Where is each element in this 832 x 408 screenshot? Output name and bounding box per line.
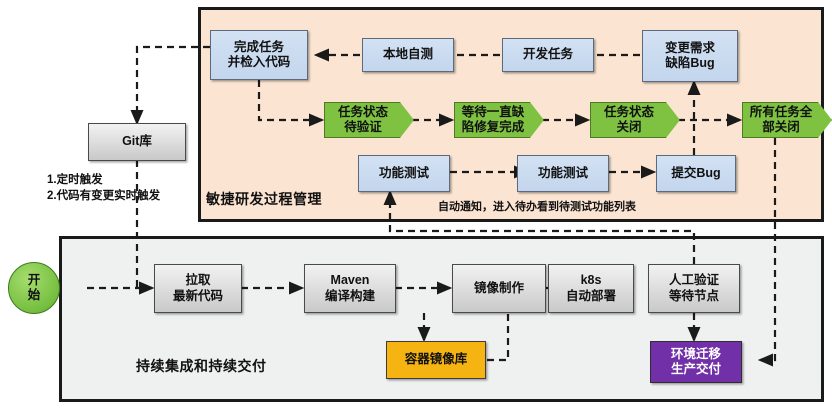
node-function-test-2[interactable]: 功能测试 (517, 155, 609, 192)
node-pull-latest-code[interactable]: 拉取 最新代码 (154, 264, 242, 313)
panel-cicd-title: 持续集成和持续交付 (136, 356, 267, 376)
node-dev-task[interactable]: 开发任务 (502, 38, 594, 72)
node-task-status-closed[interactable]: 任务状态 关闭 (590, 102, 680, 138)
node-submit-bug[interactable]: 提交Bug (656, 155, 736, 192)
node-complete-task-checkin[interactable]: 完成任务 并检入代码 (210, 30, 308, 80)
note-auto-notify: 自动通知，进入待办看到待测试功能列表 (438, 200, 636, 215)
node-env-migration-prod-delivery[interactable]: 环境迁移 生产交付 (650, 341, 742, 383)
node-git-repo[interactable]: Git库 (88, 123, 186, 161)
node-change-request-bug[interactable]: 变更需求 缺陷Bug (642, 30, 738, 82)
node-wait-defect-fix[interactable]: 等待一直缺 陷修复完成 (454, 102, 544, 138)
diagram-canvas: 敏捷研发过程管理 持续集成和持续交付 1.定时触发 2.代码有变更实时触发 自动… (0, 0, 832, 408)
node-local-self-test[interactable]: 本地自测 (362, 38, 454, 72)
node-image-build[interactable]: 镜像制作 (452, 264, 546, 313)
node-function-test-1[interactable]: 功能测试 (358, 155, 450, 192)
node-all-tasks-closed[interactable]: 所有任务全 部关闭 (742, 102, 832, 138)
node-container-image-registry[interactable]: 容器镜像库 (386, 341, 486, 379)
panel-agile-title: 敏捷研发过程管理 (206, 189, 322, 209)
node-start[interactable]: 开 始 (8, 262, 60, 314)
node-task-status-pending-verify[interactable]: 任务状态 待验证 (324, 102, 414, 138)
node-k8s-auto-deploy[interactable]: k8s 自动部署 (548, 264, 634, 313)
node-manual-verify-wait[interactable]: 人工验证 等待节点 (648, 264, 740, 313)
node-maven-build[interactable]: Maven 编译构建 (304, 264, 396, 313)
note-trigger-conditions: 1.定时触发 2.代码有变更实时触发 (47, 173, 160, 204)
